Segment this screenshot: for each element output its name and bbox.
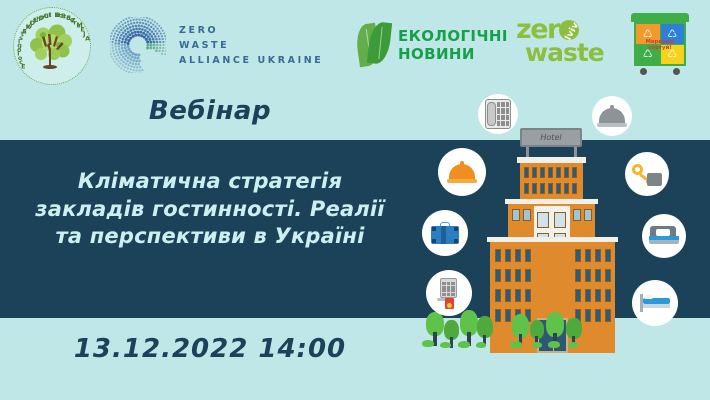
logo-line-zero: zer lviv <box>516 18 612 42</box>
badge-bed[interactable] <box>642 214 686 258</box>
hotel-sign: Hotel <box>520 128 582 147</box>
trolley-bed-icon <box>640 294 670 312</box>
logo-markuyesh-sortuy: ♺ ♺ ♺ ♺ Маркуєш сортуй! <box>629 13 691 77</box>
logo-line-waste: WASTE <box>179 40 323 51</box>
badge-cloche-gray[interactable] <box>592 96 632 136</box>
logo-strip: E K O L O G I B R E Z M E J A E c o l <box>0 0 710 90</box>
logo-wordmark: ЕКОЛОГІЧНІ НОВИНИ <box>398 29 508 62</box>
logo-zero-waste-alliance-ukraine: ZERO WASTE ALLIANCE UKRAINE <box>110 14 335 76</box>
kicker-webinar: Вебінар <box>0 96 420 126</box>
logo-line-alliance: ALLIANCE UKRAINE <box>179 55 323 66</box>
badge-suitcase[interactable] <box>422 210 468 256</box>
event-datetime: 13.12.2022 14:00 <box>0 334 420 364</box>
badge-phone[interactable] <box>478 94 518 134</box>
logo-line-ekologichni: ЕКОЛОГІЧНІ <box>398 29 508 44</box>
key-icon <box>632 162 662 186</box>
logo-wordmark: ZERO WASTE ALLIANCE UKRAINE <box>179 25 323 66</box>
bin-wheel-left <box>640 68 647 75</box>
logo-line-waste: waste <box>525 42 612 64</box>
logo-ekologi-brez-meja: E K O L O G I B R E Z M E J A E c o l <box>13 7 91 85</box>
badge-cloche-orange[interactable] <box>438 148 486 196</box>
tower-top <box>520 161 583 203</box>
door-lock-icon <box>437 278 461 308</box>
cloche-gray-icon <box>597 105 627 127</box>
hotel-illustration: Hotel <box>420 90 710 400</box>
page-title: Кліматична стратегія закладів гостинност… <box>0 168 420 251</box>
badge-trolley-bed[interactable] <box>632 280 678 326</box>
logo-line-zero: ZERO <box>179 25 323 36</box>
logo-arc-text-bottom: E c o l o g i s t s w i t h o u t b o r <box>13 7 91 85</box>
bin-slogan-line2: сортуй! <box>634 45 686 51</box>
title-line-1: Кліматична стратегія <box>0 168 420 196</box>
bin-lid <box>631 13 689 22</box>
logo-line-novyny: НОВИНИ <box>398 47 508 62</box>
leaf-icon <box>357 22 391 68</box>
suitcase-icon <box>431 222 459 244</box>
bin-wheel-right <box>673 68 680 75</box>
badge-door-lock[interactable] <box>426 270 472 316</box>
webinar-poster: E K O L O G I B R E Z M E J A E c o l <box>0 0 710 400</box>
ground-landscape <box>420 318 710 400</box>
logo-zero-text: zer <box>516 14 559 45</box>
bin-slogan: Маркуєш сортуй! <box>634 39 686 51</box>
phone-icon <box>485 99 511 129</box>
title-line-2: закладів гостинності. Реалії <box>0 196 420 224</box>
halftone-circle-icon <box>110 17 166 73</box>
logo-zero-waste-lviv: zer lviv waste <box>516 18 612 72</box>
title-line-3: та перспективи в Україні <box>0 223 420 251</box>
logo-ekologichni-novyny: ЕКОЛОГІЧНІ НОВИНИ <box>357 18 497 72</box>
badge-key[interactable] <box>625 152 669 196</box>
bed-icon <box>649 226 679 246</box>
cloche-orange-icon <box>447 161 477 183</box>
